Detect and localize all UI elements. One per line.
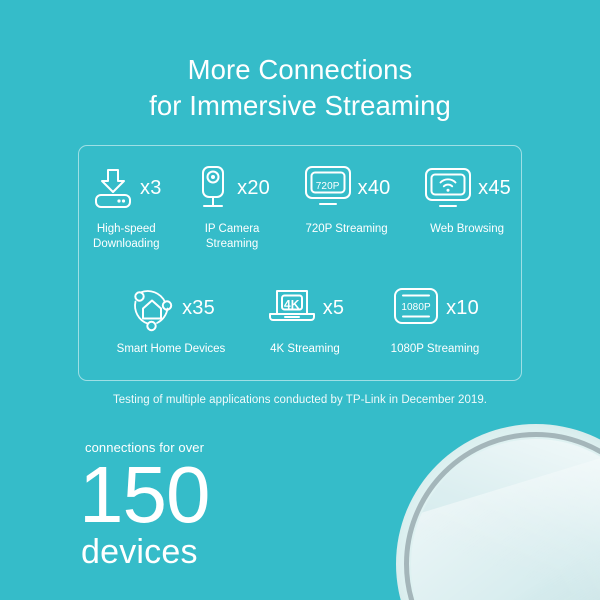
router-product-rim [404, 432, 600, 600]
monitor-wifi-icon [423, 166, 473, 210]
laptop-4k-label: 4K [266, 298, 318, 312]
app-item-ip-camera-streaming: x20 IP Camera Streaming [194, 162, 270, 252]
device-count-stat: connections for over 150 devices [83, 440, 209, 571]
app-item-high-speed-downloading: x3 High-speed Downloading [91, 162, 162, 252]
app-item-icon-count: x20 [194, 162, 270, 214]
stat-unit: devices [81, 533, 209, 571]
smart-home-network-icon [127, 283, 177, 333]
app-item-1080p-streaming: 1080P x10 1080P Streaming [365, 282, 505, 357]
applications-panel: x3 High-speed Downloading [78, 145, 522, 381]
app-item-label: Smart Home Devices [97, 342, 245, 357]
app-item-count: x20 [237, 178, 270, 198]
applications-row-2: x35 Smart Home Devices 4K [79, 282, 523, 357]
app-item-icon-count: 4K x5 [245, 282, 365, 334]
app-item-count: x40 [358, 178, 391, 198]
app-item-count: x3 [140, 178, 162, 198]
applications-row-1: x3 High-speed Downloading [79, 162, 523, 252]
monitor-720p-label: 720P [303, 181, 353, 192]
app-item-label: 1080P Streaming [365, 342, 505, 357]
laptop-4k-icon: 4K [266, 285, 318, 332]
app-item-label: 4K Streaming [245, 342, 365, 357]
poster-canvas: More Connections for Immersive Streaming [0, 0, 600, 600]
app-item-count: x45 [478, 178, 511, 198]
ip-camera-icon [194, 164, 232, 212]
app-item-icon-count: x35 [97, 282, 245, 334]
app-item-icon-count: 1080P x10 [365, 282, 505, 334]
app-item-720p-streaming: 720P x40 720P Streaming [303, 162, 391, 237]
monitor-720p-icon: 720P [303, 164, 353, 213]
app-item-label: High-speed Downloading [91, 222, 162, 252]
app-item-smart-home-devices: x35 Smart Home Devices [97, 282, 245, 357]
app-item-icon-count: 720P x40 [303, 162, 391, 214]
app-item-label: IP Camera Streaming [194, 222, 270, 252]
app-item-4k-streaming: 4K x5 4K Streaming [245, 282, 365, 357]
screen-1080p-icon: 1080P [391, 285, 441, 332]
app-item-label: 720P Streaming [303, 222, 391, 237]
download-router-icon [91, 165, 135, 211]
stat-number: 150 [79, 457, 209, 533]
page-title-line-1: More Connections [0, 52, 600, 88]
footnote-text: Testing of multiple applications conduct… [0, 394, 600, 406]
app-item-web-browsing: x45 Web Browsing [423, 162, 511, 237]
page-title-line-2: for Immersive Streaming [0, 88, 600, 124]
app-item-icon-count: x45 [423, 162, 511, 214]
app-item-label: Web Browsing [423, 222, 511, 237]
page-title: More Connections for Immersive Streaming [0, 52, 600, 124]
app-item-icon-count: x3 [91, 162, 162, 214]
screen-1080p-label: 1080P [391, 302, 441, 313]
app-item-count: x35 [182, 298, 215, 318]
app-item-count: x10 [446, 298, 479, 318]
app-item-count: x5 [323, 298, 345, 318]
